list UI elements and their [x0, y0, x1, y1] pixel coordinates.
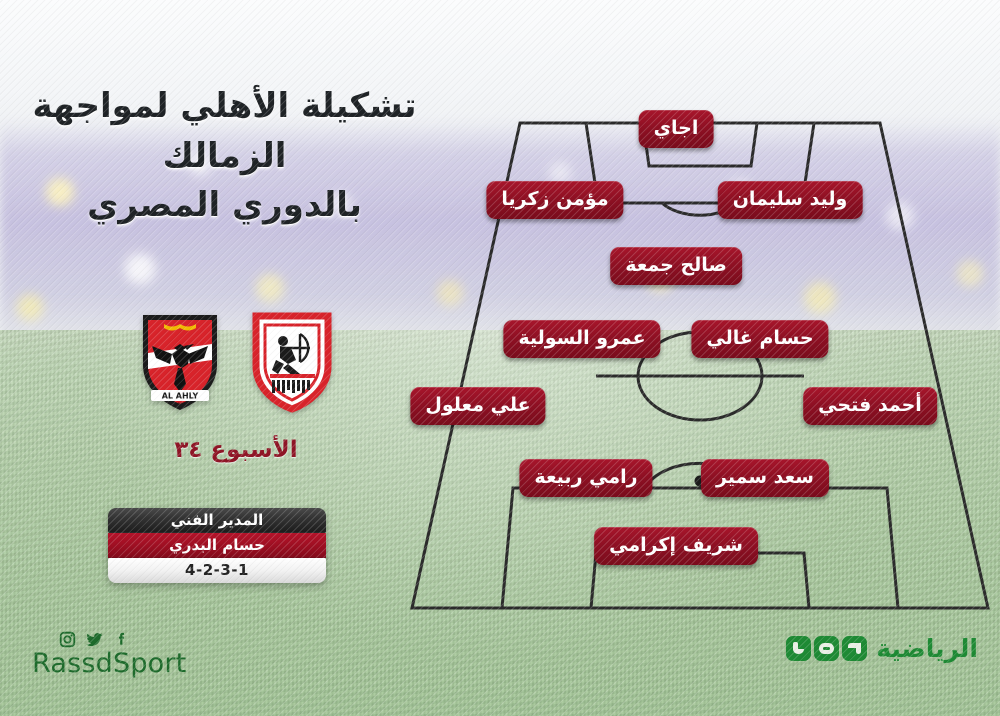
logomark-letter-dal: [842, 636, 867, 661]
rassd-logomark: [786, 636, 867, 661]
coach-name: حسام البدري: [108, 533, 326, 558]
instagram-icon[interactable]: [58, 630, 77, 649]
player-badge-centre-back-left: رامي ربيعة: [519, 459, 652, 497]
svg-text:AL AHLY: AL AHLY: [162, 392, 199, 401]
player-badge-right-back: أحمد فتحي: [803, 387, 937, 425]
title-line-1: تشكيلة الأهلي لمواجهة: [27, 82, 422, 132]
lineup-graphic: تشكيلة الأهلي لمواجهة الزمالك بالدوري ال…: [0, 0, 1000, 716]
club-crests: AL AHLY 1907: [105, 298, 367, 423]
twitter-icon[interactable]: [84, 630, 105, 649]
player-badge-attacking-midfield: صالح جمعة: [610, 247, 742, 285]
player-badge-centre-back-right: سعد سمير: [701, 459, 829, 497]
coach-panel: المدير الفني حسام البدري 4-2-3-1: [108, 508, 326, 583]
al-ahly-crest: AL AHLY 1907: [138, 308, 222, 413]
player-badge-central-midfield-right: حسام غالي: [691, 320, 828, 358]
player-badge-striker: اجاي: [639, 110, 714, 148]
social-icons: [58, 630, 131, 649]
week-label: الأسبوع ٣٤: [105, 437, 367, 463]
coach-role-label: المدير الفني: [108, 508, 326, 533]
logomark-letter-ra: [786, 636, 811, 661]
title-line-2: الزمالك: [27, 132, 422, 182]
svg-text:1907: 1907: [175, 402, 186, 407]
page-title: تشكيلة الأهلي لمواجهة الزمالك بالدوري ال…: [27, 82, 422, 231]
player-badge-central-midfield-left: عمرو السولية: [503, 320, 660, 358]
title-line-3: بالدوري المصري: [27, 181, 422, 231]
player-badge-goalkeeper: شريف إكرامي: [594, 527, 758, 565]
brand-word: الرياضية: [876, 634, 978, 663]
rassd-brand-logo: الرياضية: [786, 634, 978, 663]
player-badge-left-winger: مؤمن زكريا: [486, 181, 623, 219]
logomark-letter-sad: [814, 636, 839, 661]
player-badge-left-back: علي معلول: [410, 387, 545, 425]
formation-label: 4-2-3-1: [108, 558, 326, 583]
player-badge-right-winger: وليد سليمان: [718, 181, 863, 219]
site-handle: RassdSport: [32, 648, 186, 679]
facebook-icon[interactable]: [112, 630, 131, 649]
zamalek-crest: [250, 308, 334, 413]
